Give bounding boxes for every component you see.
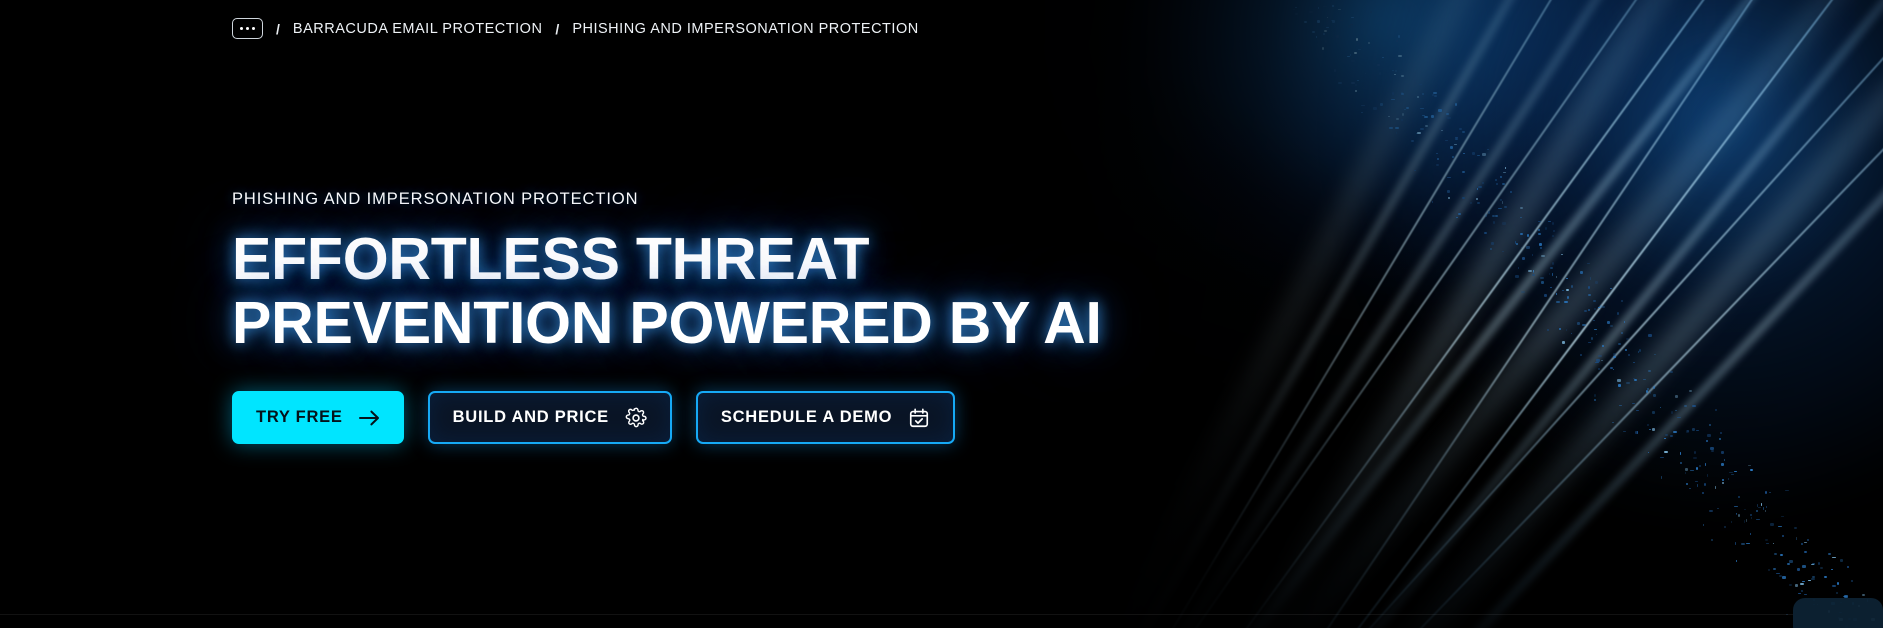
binary-particle (1601, 360, 1603, 361)
schedule-a-demo-button-label: SCHEDULE A DEMO (721, 408, 892, 427)
binary-particle (1617, 312, 1619, 315)
binary-particle (1322, 47, 1324, 50)
binary-particle (1735, 542, 1736, 545)
binary-particle (1756, 510, 1758, 512)
binary-particle (1527, 234, 1529, 237)
binary-particle (1693, 457, 1697, 459)
binary-particle (1580, 271, 1583, 274)
binary-particle (1705, 463, 1706, 466)
page-title: EFFORTLESS THREAT PREVENTION POWERED BY … (232, 228, 1102, 355)
binary-particle (1520, 207, 1523, 209)
binary-particle (1675, 395, 1678, 398)
light-streak (1155, 0, 1883, 628)
binary-particle (1492, 215, 1495, 217)
binary-particle (1756, 519, 1760, 520)
binary-particle (1670, 371, 1673, 373)
binary-particle (1532, 254, 1533, 256)
binary-particle (1843, 596, 1847, 597)
binary-particle (1664, 438, 1666, 439)
light-streak (1113, 0, 1857, 628)
binary-particle (1445, 140, 1448, 141)
binary-particle (1664, 451, 1668, 453)
binary-particle (1724, 459, 1725, 461)
binary-particle (1541, 281, 1544, 284)
binary-particle (1684, 405, 1687, 407)
binary-particle (1690, 470, 1694, 471)
binary-particle (1398, 55, 1402, 57)
binary-particle (1715, 409, 1717, 411)
binary-particle (1812, 576, 1815, 578)
binary-particle (1417, 96, 1419, 98)
binary-particle (1677, 417, 1681, 418)
binary-particle (1613, 353, 1616, 356)
binary-particle (1646, 390, 1648, 393)
binary-particle (1774, 553, 1777, 555)
binary-particle (1541, 255, 1545, 257)
binary-particle (1736, 513, 1737, 514)
binary-particle (1787, 563, 1790, 565)
arrow-right-icon (359, 410, 380, 426)
binary-particle (1450, 146, 1453, 149)
binary-particle (1515, 275, 1519, 278)
binary-particle (1495, 179, 1497, 181)
binary-particle (1687, 430, 1689, 432)
binary-particle (1550, 267, 1553, 269)
binary-particle (1417, 132, 1421, 134)
binary-particle (1357, 80, 1359, 81)
binary-particle (1634, 379, 1637, 381)
binary-particle (1696, 430, 1699, 431)
binary-particle (1532, 274, 1535, 276)
binary-particle (1794, 527, 1797, 529)
binary-particle (1566, 289, 1569, 291)
binary-particle (1484, 232, 1487, 234)
binary-particle (1722, 482, 1724, 484)
binary-particle (1785, 490, 1789, 491)
binary-particle (1639, 349, 1641, 352)
binary-particle (1332, 5, 1334, 7)
binary-particle (1470, 202, 1472, 204)
binary-particle (1388, 116, 1390, 117)
binary-particle (1504, 206, 1507, 208)
binary-particle (1802, 581, 1805, 582)
binary-particle (1648, 370, 1651, 372)
binary-particle (1521, 291, 1525, 293)
binary-particle (1802, 565, 1806, 568)
binary-particle (1354, 52, 1357, 54)
binary-particle (1800, 583, 1804, 585)
binary-particle (1502, 251, 1504, 252)
binary-particle (1518, 267, 1519, 269)
binary-particle (1750, 514, 1752, 516)
binary-particle (1361, 112, 1363, 113)
binary-particle (1552, 262, 1554, 265)
binary-particle (1401, 93, 1404, 95)
binary-particle (1391, 99, 1395, 100)
page-title-line-2: PREVENTION POWERED BY AI (232, 292, 1102, 356)
try-free-button[interactable]: TRY FREE (232, 391, 404, 444)
binary-particle (1660, 407, 1661, 408)
binary-particle (1804, 551, 1807, 553)
binary-particle (1477, 202, 1480, 204)
binary-particle (1312, 31, 1315, 33)
light-streak (1213, 0, 1883, 628)
binary-particle (1685, 472, 1686, 474)
binary-particle (1632, 403, 1635, 404)
binary-particle (1389, 127, 1393, 129)
binary-particle (1424, 116, 1428, 118)
binary-particle (1462, 171, 1465, 173)
binary-particle (1365, 73, 1366, 74)
binary-particle (1731, 474, 1734, 475)
binary-particle (1425, 125, 1428, 127)
binary-particle (1406, 107, 1409, 109)
binary-particle (1487, 149, 1489, 150)
binary-particle (1392, 92, 1394, 95)
binary-particle (1533, 270, 1534, 273)
binary-particle (1613, 356, 1616, 358)
binary-particle (1643, 379, 1646, 380)
binary-particle (1653, 386, 1655, 389)
binary-particle (1533, 270, 1534, 272)
binary-particle (1598, 307, 1600, 308)
try-free-button-label: TRY FREE (256, 408, 343, 427)
binary-particle (1515, 241, 1516, 244)
binary-particle (1540, 247, 1542, 249)
binary-particle (1612, 422, 1614, 423)
light-streak (1291, 0, 1883, 628)
binary-particle (1621, 332, 1623, 334)
binary-particle (1811, 564, 1814, 565)
binary-particle (1702, 492, 1704, 494)
binary-particle (1398, 35, 1400, 38)
binary-particle (1711, 450, 1714, 452)
binary-particle (1577, 322, 1580, 325)
binary-particle (1590, 277, 1591, 280)
binary-particle (1602, 306, 1605, 308)
binary-particle (1729, 472, 1733, 473)
binary-particle (1696, 467, 1698, 470)
binary-particle (1336, 35, 1339, 38)
binary-particle (1538, 233, 1541, 235)
binary-particle (1521, 247, 1522, 248)
binary-particle (1610, 367, 1613, 369)
ellipsis-dot (240, 27, 243, 30)
binary-particle (1811, 578, 1815, 580)
binary-particle (1459, 128, 1462, 130)
binary-particle (1613, 369, 1614, 370)
bottom-divider (0, 614, 1883, 615)
binary-particle (1358, 49, 1361, 50)
binary-particle (1618, 384, 1621, 387)
binary-particle (1704, 483, 1706, 486)
binary-particle (1820, 567, 1823, 569)
chat-widget-panel[interactable] (1793, 598, 1883, 628)
binary-particle (1472, 152, 1475, 155)
binary-particle (1595, 281, 1598, 284)
binary-particle (1351, 60, 1355, 62)
binary-particle (1402, 113, 1404, 116)
binary-particle (1420, 108, 1424, 109)
binary-particle (1699, 465, 1701, 467)
binary-particle (1447, 177, 1451, 178)
binary-particle (1456, 217, 1458, 218)
binary-particle (1522, 257, 1525, 260)
binary-particle (1526, 246, 1530, 249)
binary-particle (1452, 156, 1454, 158)
ellipsis-icon[interactable] (232, 18, 263, 39)
binary-particle (1318, 7, 1319, 9)
binary-particle (1340, 20, 1343, 21)
light-streak (1232, 0, 1883, 628)
binary-particle (1731, 521, 1732, 523)
binary-particle (1649, 429, 1651, 430)
breadcrumb: / BARRACUDA EMAIL PROTECTION / PHISHING … (232, 18, 919, 39)
binary-particle (1619, 405, 1622, 406)
binary-particle (1593, 300, 1596, 302)
hero-banner: / BARRACUDA EMAIL PROTECTION / PHISHING … (0, 0, 1883, 628)
binary-particle (1706, 440, 1708, 442)
binary-particle (1547, 329, 1549, 331)
binary-particle (1500, 199, 1502, 201)
binary-particle (1550, 287, 1552, 288)
binary-particle (1571, 333, 1572, 334)
binary-particle (1323, 6, 1327, 7)
binary-particle (1401, 75, 1404, 77)
binary-particle (1401, 92, 1403, 94)
binary-particle (1334, 69, 1336, 72)
binary-particle (1765, 510, 1766, 512)
binary-particle (1796, 538, 1797, 540)
binary-particle (1559, 328, 1561, 330)
binary-particle (1411, 140, 1414, 142)
binary-particle (1750, 469, 1753, 471)
binary-particle (1724, 526, 1726, 528)
binary-particle (1351, 17, 1354, 18)
binary-particle (1665, 434, 1668, 436)
binary-particle (1564, 301, 1568, 303)
breadcrumb-separator: / (276, 22, 280, 36)
binary-particle (1502, 201, 1503, 204)
binary-particle (1744, 509, 1746, 510)
binary-particle (1392, 70, 1394, 71)
binary-particle (1396, 132, 1397, 134)
binary-particle (1587, 263, 1590, 264)
binary-particle (1647, 424, 1649, 426)
binary-particle (1695, 481, 1698, 482)
binary-particle (1685, 468, 1688, 471)
binary-particle (1621, 300, 1623, 302)
light-streak (1051, 0, 1741, 628)
binary-particle (1824, 576, 1827, 578)
binary-particle (1584, 310, 1587, 312)
binary-particle (1707, 474, 1708, 477)
binary-particle (1689, 390, 1692, 392)
binary-particle (1420, 128, 1424, 130)
breadcrumb-item-barracuda-email-protection[interactable]: BARRACUDA EMAIL PROTECTION (293, 21, 543, 37)
binary-particle (1765, 539, 1768, 541)
schedule-a-demo-button[interactable]: SCHEDULE A DEMO (696, 391, 955, 444)
binary-particle (1419, 84, 1422, 85)
binary-particle (1638, 351, 1639, 353)
binary-particle (1831, 569, 1833, 570)
binary-particle (1768, 569, 1770, 571)
binary-particle (1503, 172, 1506, 173)
binary-particle (1351, 82, 1355, 84)
binary-particle (1796, 537, 1797, 538)
hero-cta-group: TRY FREE BUILD AND PRICE SCHEDULE A DEMO (232, 391, 1102, 444)
binary-particle (1633, 362, 1635, 363)
binary-particle (1847, 566, 1849, 568)
binary-particle (1648, 334, 1652, 337)
binary-particle (1598, 355, 1602, 357)
binary-particle (1324, 30, 1327, 32)
binary-particle (1355, 90, 1357, 92)
binary-particle (1717, 508, 1719, 509)
binary-particle (1360, 47, 1362, 48)
binary-particle (1582, 324, 1586, 326)
binary-particle (1746, 543, 1750, 544)
binary-particle (1653, 394, 1656, 397)
binary-particle (1588, 294, 1591, 296)
binary-particle (1776, 573, 1780, 574)
binary-particle (1340, 36, 1342, 38)
background-glow-edge (1303, 0, 1883, 520)
binary-particle (1671, 411, 1673, 414)
binary-particle (1720, 432, 1722, 434)
binary-particle (1594, 329, 1597, 330)
binary-particle (1394, 74, 1396, 75)
binary-particle (1493, 221, 1495, 224)
binary-particle (1549, 273, 1550, 275)
binary-particle (1626, 382, 1630, 384)
binary-particle (1686, 483, 1688, 485)
binary-particle (1477, 155, 1480, 156)
binary-particle (1648, 452, 1649, 453)
binary-particle (1516, 243, 1518, 245)
binary-particle (1502, 222, 1506, 225)
binary-particle (1414, 170, 1416, 171)
binary-particle (1556, 301, 1560, 303)
binary-particle (1482, 182, 1484, 184)
binary-particle (1797, 568, 1800, 571)
build-and-price-button-label: BUILD AND PRICE (453, 408, 609, 427)
binary-particle (1566, 278, 1568, 279)
binary-particle (1556, 276, 1557, 278)
binary-particle (1370, 11, 1372, 13)
build-and-price-button[interactable]: BUILD AND PRICE (428, 391, 672, 444)
binary-particle (1770, 523, 1774, 526)
binary-particle (1520, 217, 1522, 218)
binary-particle (1670, 435, 1673, 437)
binary-particle (1571, 285, 1573, 288)
binary-particle (1331, 20, 1333, 21)
binary-particle (1652, 428, 1655, 431)
binary-particle (1837, 582, 1839, 585)
breadcrumb-separator: / (555, 22, 559, 36)
binary-particle (1447, 190, 1450, 193)
binary-particle (1818, 562, 1820, 565)
binary-particle (1316, 36, 1317, 38)
light-streak (1042, 0, 1701, 628)
binary-particle (1637, 431, 1638, 434)
binary-particle (1635, 431, 1638, 434)
binary-particle (1455, 137, 1458, 138)
binary-particle (1395, 70, 1397, 72)
ellipsis-dot (246, 27, 249, 30)
calendar-check-icon (908, 407, 930, 429)
binary-particle (1436, 164, 1439, 166)
binary-particle (1502, 183, 1505, 185)
binary-particle (1482, 153, 1486, 156)
binary-particle (1647, 388, 1649, 390)
binary-particle (1692, 428, 1695, 431)
binary-particle (1789, 584, 1792, 586)
hero-content: PHISHING AND IMPERSONATION PROTECTION EF… (232, 190, 1102, 444)
binary-particle (1358, 43, 1360, 45)
binary-particle (1673, 431, 1677, 433)
binary-particle (1617, 379, 1621, 382)
binary-particle (1596, 334, 1597, 335)
binary-particle (1769, 492, 1771, 493)
binary-particle (1832, 557, 1836, 558)
binary-particle (1348, 25, 1351, 28)
binary-particle (1680, 452, 1681, 455)
binary-particle (1812, 563, 1815, 565)
binary-particle (1361, 105, 1365, 106)
binary-particle (1326, 27, 1329, 28)
binary-particle (1734, 506, 1738, 507)
light-streak (1183, 0, 1856, 628)
binary-particle (1765, 491, 1767, 494)
binary-particle (1488, 211, 1490, 214)
binary-particle (1552, 235, 1554, 237)
binary-particle (1463, 153, 1465, 154)
binary-particle (1580, 354, 1582, 356)
light-streak (1233, 0, 1883, 628)
binary-particle (1422, 115, 1425, 116)
binary-particle (1561, 254, 1563, 255)
binary-particle (1293, 9, 1295, 10)
binary-particle (1510, 191, 1512, 193)
binary-particle (1610, 325, 1613, 327)
binary-particle (1347, 56, 1350, 57)
binary-particle (1757, 504, 1758, 507)
binary-particle (1798, 593, 1801, 594)
binary-particle (1370, 52, 1371, 53)
binary-particle (1295, 13, 1298, 15)
binary-particle (1454, 144, 1457, 145)
binary-particle (1807, 539, 1809, 541)
binary-particle (1652, 411, 1655, 414)
binary-particle (1566, 329, 1567, 331)
binary-particle (1491, 242, 1494, 245)
binary-particle (1462, 131, 1465, 133)
binary-particle (1697, 484, 1698, 487)
binary-particle (1751, 517, 1752, 519)
binary-particle (1562, 341, 1565, 344)
binary-particle (1490, 248, 1492, 250)
binary-particle (1721, 451, 1724, 454)
binary-particle (1773, 543, 1774, 544)
binary-particle (1744, 520, 1745, 523)
binary-particle (1448, 197, 1450, 199)
binary-particle (1734, 471, 1737, 472)
hero-eyebrow: PHISHING AND IMPERSONATION PROTECTION (232, 190, 1102, 209)
binary-particle (1778, 526, 1782, 527)
binary-particle (1836, 592, 1838, 594)
binary-particle (1495, 215, 1498, 217)
